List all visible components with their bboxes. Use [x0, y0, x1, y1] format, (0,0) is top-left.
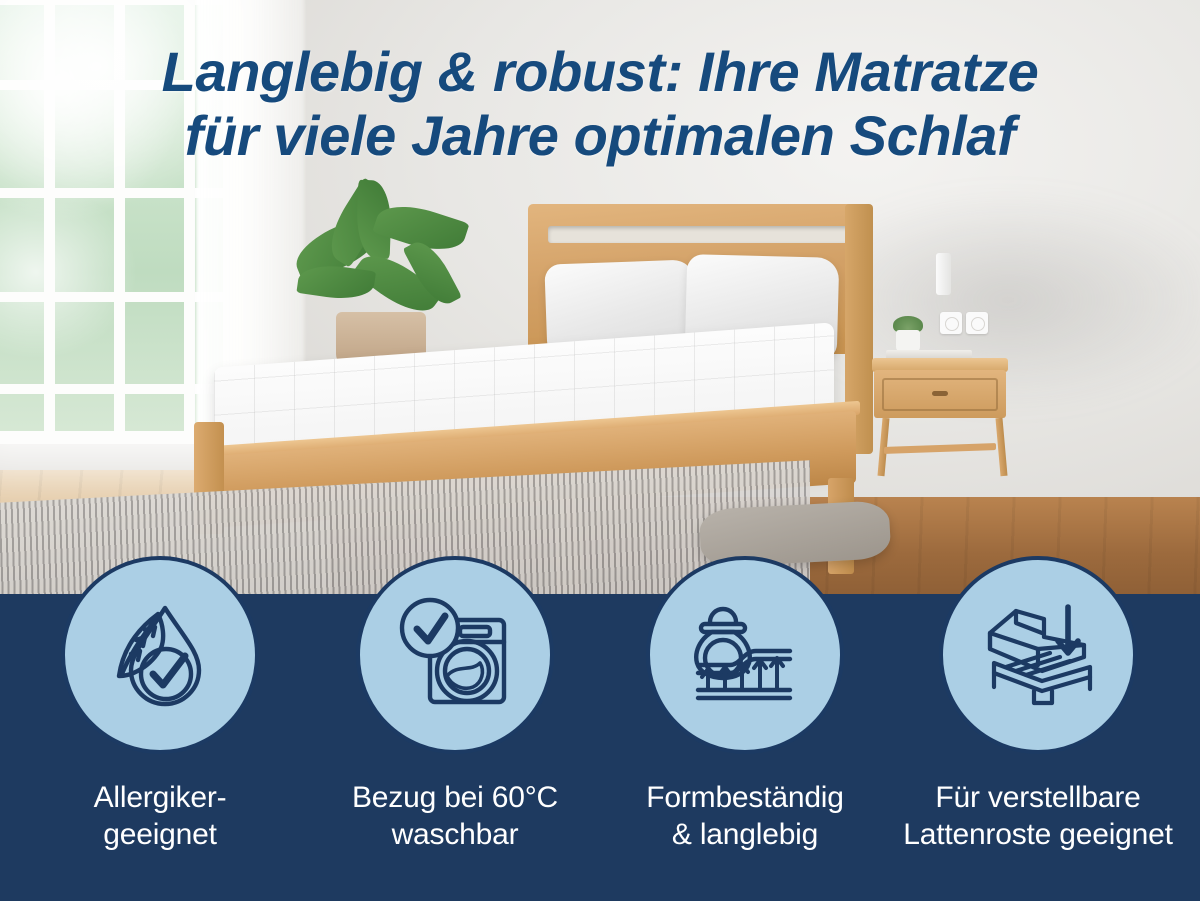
- feature-item-durable[interactable]: Formbeständig & langlebig: [595, 556, 895, 853]
- feature-item-allergy[interactable]: Allergiker- geeignet: [10, 556, 310, 853]
- feature-icon-circle: [356, 556, 554, 754]
- washing-machine-check-icon: [390, 590, 520, 720]
- power-outlet: [940, 312, 962, 334]
- allergy-droplet-feather-check-icon: [95, 590, 225, 720]
- headline-line-2: für viele Jahre optimalen Schlaf: [0, 104, 1200, 168]
- feature-icon-circle: [939, 556, 1137, 754]
- feature-item-adjustable[interactable]: Für verstellbare Lattenroste geeignet: [888, 556, 1188, 853]
- kettlebell-resilient-mattress-icon: [680, 590, 810, 720]
- feature-label: Bezug bei 60°C waschbar: [305, 780, 605, 853]
- wall-sconce: [936, 253, 951, 295]
- headline-line-1: Langlebig & robust: Ihre Matratze: [0, 40, 1200, 104]
- feature-label: Allergiker- geeignet: [10, 780, 310, 853]
- feature-icon-circle: [646, 556, 844, 754]
- promo-banner: Langlebig & robust: Ihre Matratze für vi…: [0, 0, 1200, 901]
- feature-label: Formbeständig & langlebig: [595, 780, 895, 853]
- feature-item-washable[interactable]: Bezug bei 60°C waschbar: [305, 556, 605, 853]
- feature-icon-circle: [61, 556, 259, 754]
- power-outlet: [966, 312, 988, 334]
- feature-label: Für verstellbare Lattenroste geeignet: [888, 780, 1188, 853]
- page-title: Langlebig & robust: Ihre Matratze für vi…: [0, 40, 1200, 168]
- adjustable-slatted-base-icon: [972, 589, 1104, 721]
